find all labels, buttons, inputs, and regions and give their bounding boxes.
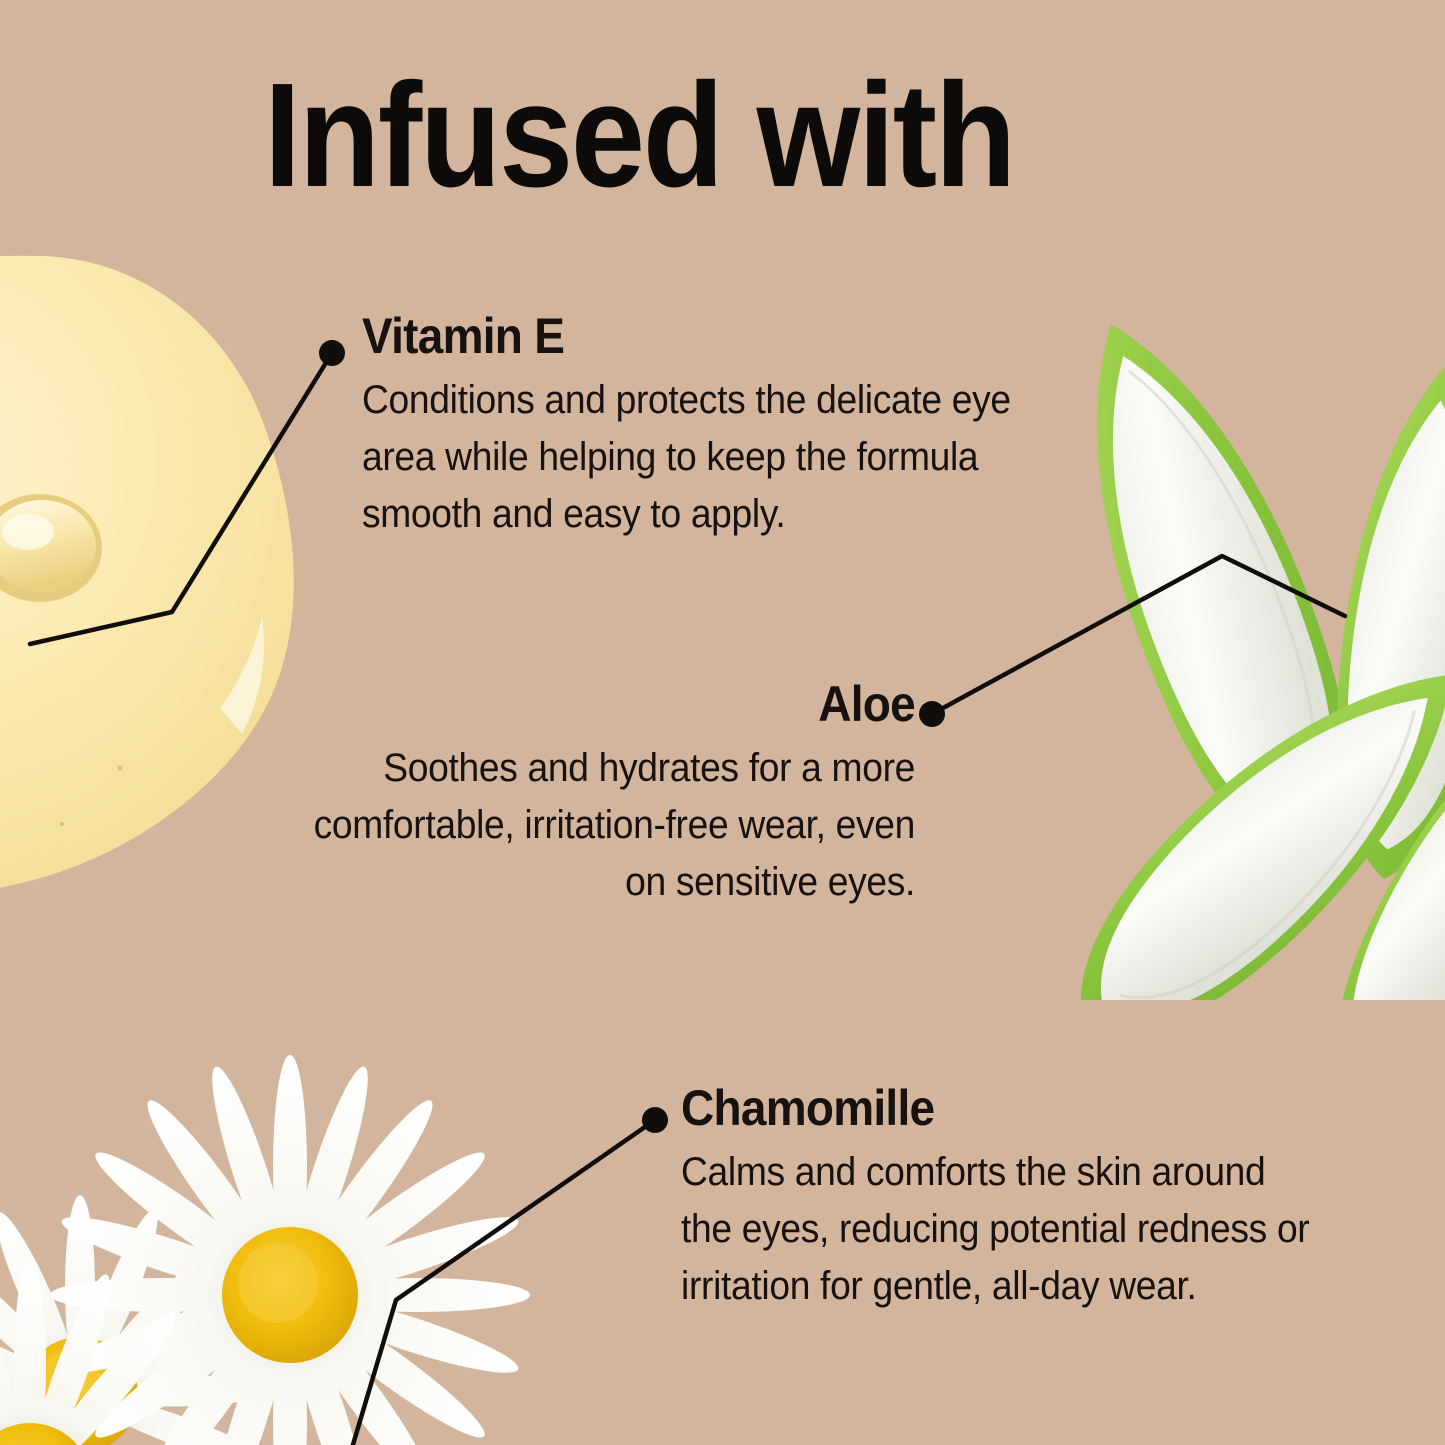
ingredient-block-chamomille: Chamomille Calms and comforts the skin a… <box>681 1082 1361 1316</box>
ingredient-description-chamomille: Calms and comforts the skin around the e… <box>681 1144 1313 1316</box>
ingredient-name-aloe: Aloe <box>303 678 915 731</box>
leader-line-vitamin-e <box>30 353 332 644</box>
ingredient-name-vitamin-e: Vitamin E <box>362 310 1006 363</box>
leader-line-chamomille <box>352 1120 655 1445</box>
ingredient-description-aloe: Soothes and hydrates for a more comforta… <box>297 740 915 912</box>
infographic-canvas: Infused with Vitamin E Conditions and pr… <box>0 0 1445 1445</box>
ingredient-description-vitamin-e: Conditions and protects the delicate eye… <box>362 372 1013 544</box>
ingredient-block-aloe: Aloe Soothes and hydrates for a more com… <box>250 678 915 912</box>
ingredient-block-vitamin-e: Vitamin E Conditions and protects the de… <box>362 310 1062 544</box>
leader-dot-chamomille <box>642 1107 668 1133</box>
leader-line-aloe <box>932 556 1345 714</box>
leader-dot-vitamin-e <box>319 340 345 366</box>
leader-dot-aloe <box>919 701 945 727</box>
ingredient-name-chamomille: Chamomille <box>681 1082 1307 1135</box>
page-title: Infused with <box>264 62 1014 210</box>
